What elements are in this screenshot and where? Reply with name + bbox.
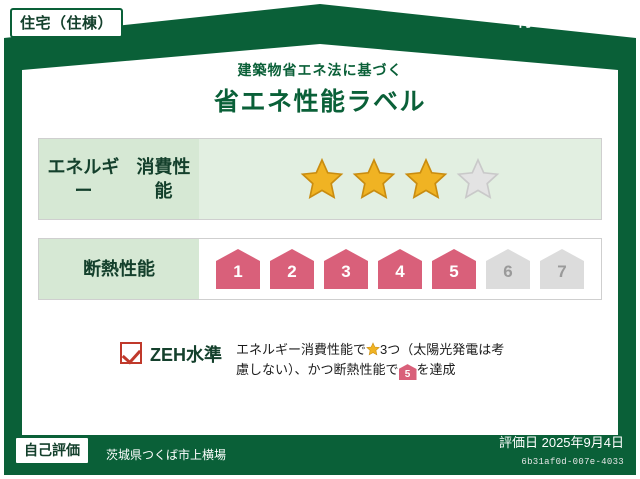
star-empty-icon xyxy=(455,157,501,201)
insulation-level-chip: 1 xyxy=(216,249,260,289)
zeh-description: エネルギー消費性能で3つ（太陽光発電は考慮しない）、かつ断熱性能で5を達成 xyxy=(236,340,506,380)
energy-label-line1: エネルギー xyxy=(39,155,128,204)
insulation-level-chip: 6 xyxy=(486,249,530,289)
zeh-text-part4: を達成 xyxy=(417,362,456,377)
zeh-section: ZEH水準 エネルギー消費性能で3つ（太陽光発電は考慮しない）、かつ断熱性能で5… xyxy=(120,340,540,396)
energy-performance-row: エネルギー 消費性能 xyxy=(38,138,602,220)
self-evaluation-tag: 自己評価 xyxy=(14,436,90,465)
label-title: 省エネ性能ラベル xyxy=(0,82,640,118)
insulation-performance-label-cell: 断熱性能 xyxy=(39,239,199,299)
evaluation-date-value: 2025年9月4日 xyxy=(542,435,624,450)
label-subtitle: 建築物省エネ法に基づく xyxy=(0,60,640,80)
insulation-level-chip: 5 xyxy=(432,249,476,289)
evaluation-date: 評価日 2025年9月4日 xyxy=(499,432,624,451)
insulation-performance-row: 断熱性能 1 2 3 4 5 6 xyxy=(38,238,602,300)
property-address: 茨城県つくば市上横場 xyxy=(106,446,226,463)
insulation-level-scale: 1 2 3 4 5 6 7 xyxy=(199,239,601,299)
zeh-text-part2: 3つ（太陽光発電 xyxy=(380,342,478,357)
building-type-tag: 住宅（住棟） xyxy=(10,8,123,38)
renewable-energy-tag: 再エネ設備なし xyxy=(517,10,626,31)
star-filled-icon xyxy=(351,157,397,201)
star-filled-icon xyxy=(299,157,345,201)
zeh-标题: ZEH水準 xyxy=(150,341,222,367)
star-inline-icon xyxy=(366,342,380,356)
zeh-checkbox-icon xyxy=(120,342,142,364)
energy-performance-label-cell: エネルギー 消費性能 xyxy=(39,139,199,219)
zeh-text-part1: エネルギー消費性能で xyxy=(236,342,366,357)
star-filled-icon xyxy=(403,157,449,201)
zeh-inline-chip: 5 xyxy=(399,364,417,380)
insulation-level-chip: 4 xyxy=(378,249,422,289)
insulation-level-chip: 7 xyxy=(540,249,584,289)
label-id: 6b31af0d-007e-4033 xyxy=(521,457,624,467)
energy-performance-label: 住宅（住棟） 再エネ設備なし 建築物省エネ法に基づく 省エネ性能ラベル エネルギ… xyxy=(0,0,640,479)
energy-label-line2: 消費性能 xyxy=(128,155,199,204)
energy-star-rating xyxy=(199,139,601,219)
insulation-level-chip: 2 xyxy=(270,249,314,289)
insulation-level-chip: 3 xyxy=(324,249,368,289)
evaluation-date-label: 評価日 xyxy=(499,435,538,450)
